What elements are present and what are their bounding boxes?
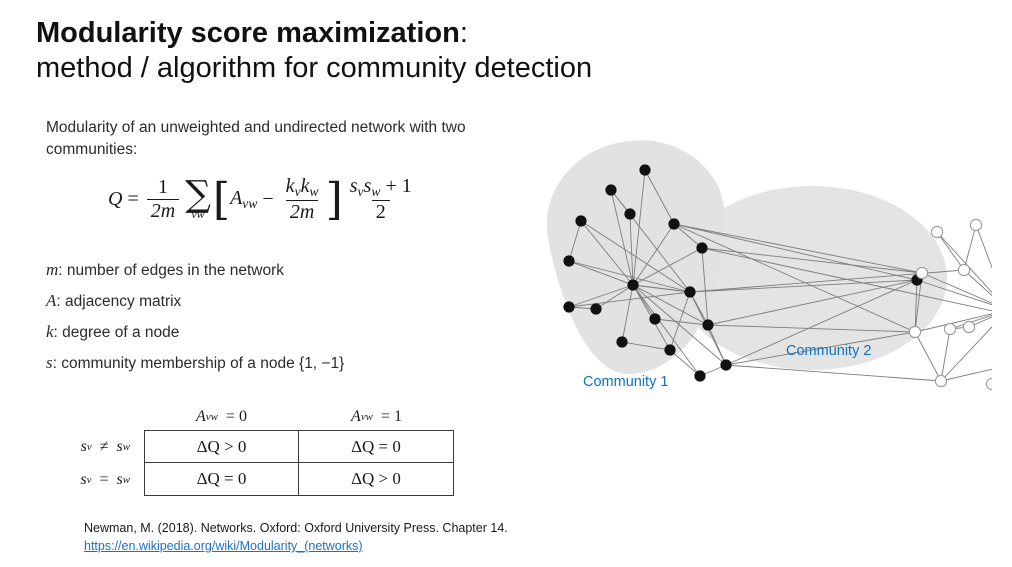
col-header-a-subscript: vw bbox=[361, 411, 373, 423]
network-node bbox=[696, 242, 707, 253]
network-edge bbox=[915, 332, 941, 381]
degree-numerator: kvkw bbox=[282, 176, 323, 200]
table-cell: ΔQ = 0 bbox=[299, 430, 454, 463]
spin-s-w-sub: w bbox=[371, 184, 380, 199]
definition-item: s: community membership of a node {1, −1… bbox=[46, 348, 486, 379]
network-figure bbox=[512, 120, 992, 400]
page-subtitle: method / algorithm for community detecti… bbox=[36, 50, 856, 86]
table-cell: ΔQ > 0 bbox=[144, 430, 299, 463]
citation-block: Newman, M. (2018). Networks. Oxford: Oxf… bbox=[84, 519, 508, 555]
community-1-label: Community 1 bbox=[583, 374, 668, 390]
row-header-s-w-sub: w bbox=[123, 474, 130, 486]
prefactor-fraction: 1 2m bbox=[147, 177, 179, 222]
table-row-header-neq: sv ≠ sw bbox=[24, 430, 144, 463]
col-header-a-value: = 1 bbox=[381, 408, 402, 426]
definition-text: : community membership of a node {1, −1} bbox=[53, 355, 345, 372]
lead-paragraph: Modularity of an unweighted and undirect… bbox=[46, 117, 466, 161]
definition-text: : degree of a node bbox=[54, 324, 180, 341]
network-node bbox=[639, 164, 650, 175]
spin-s-v: s bbox=[350, 175, 358, 197]
network-node bbox=[649, 313, 660, 324]
network-node bbox=[605, 184, 616, 195]
formula-minus: − bbox=[262, 188, 273, 211]
adjacency-term: Avw bbox=[230, 187, 257, 212]
definition-symbol: A bbox=[46, 291, 56, 310]
page-title: Modularity score maximization: bbox=[36, 16, 856, 50]
degree-fraction: kvkw 2m bbox=[282, 176, 323, 223]
formula-lhs: Q bbox=[108, 188, 122, 211]
table-row-header-eq: sv = sw bbox=[24, 463, 144, 496]
network-node bbox=[916, 267, 927, 278]
network-edge bbox=[941, 346, 992, 381]
definition-item: k: degree of a node bbox=[46, 317, 486, 348]
row-header-relation: = bbox=[99, 471, 108, 489]
citation-link[interactable]: https://en.wikipedia.org/wiki/Modularity… bbox=[84, 539, 363, 553]
network-node bbox=[944, 323, 955, 334]
network-node bbox=[624, 208, 635, 219]
community-2-label: Community 2 bbox=[786, 343, 871, 359]
title-strong: Modularity score maximization bbox=[36, 17, 460, 49]
col-header-a-subscript: vw bbox=[206, 411, 218, 423]
row-header-s-w-sub: w bbox=[123, 441, 130, 453]
definition-text: : number of edges in the network bbox=[58, 262, 284, 279]
title-colon: : bbox=[460, 17, 468, 49]
adjacency-symbol: A bbox=[230, 187, 242, 209]
degree-k-w: k bbox=[301, 175, 310, 197]
degree-k-v: k bbox=[286, 175, 295, 197]
definition-item: A: adjacency matrix bbox=[46, 286, 486, 317]
network-node bbox=[627, 279, 638, 290]
network-node bbox=[958, 264, 969, 275]
row-header-s-v-sub: v bbox=[87, 474, 92, 486]
spin-denominator: 2 bbox=[372, 200, 390, 223]
table-cell: ΔQ > 0 bbox=[299, 463, 454, 496]
bracket-open: [ bbox=[213, 180, 230, 220]
network-node bbox=[963, 321, 974, 332]
network-graph-svg bbox=[512, 120, 992, 400]
row-header-relation: ≠ bbox=[100, 438, 109, 456]
definition-item: m: number of edges in the network bbox=[46, 255, 486, 286]
summation: ∑ vw bbox=[185, 180, 211, 220]
citation-reference: Newman, M. (2018). Networks. Oxford: Oxf… bbox=[84, 519, 508, 537]
network-edge bbox=[964, 225, 976, 270]
adjacency-subscript: vw bbox=[242, 196, 257, 211]
network-node bbox=[935, 375, 946, 386]
network-node bbox=[575, 215, 586, 226]
spin-numerator: svsw + 1 bbox=[346, 176, 416, 200]
spin-plus-one: + 1 bbox=[385, 175, 411, 197]
network-node bbox=[909, 326, 920, 337]
sum-subscript: vw bbox=[191, 209, 204, 220]
degree-denominator: 2m bbox=[286, 200, 318, 223]
title-block: Modularity score maximization: method / … bbox=[36, 16, 856, 86]
table-cell: ΔQ = 0 bbox=[144, 463, 299, 496]
definition-symbol: k bbox=[46, 322, 54, 341]
col-header-a-symbol: A bbox=[351, 408, 361, 426]
delta-q-table: Avw = 0 Avw = 1 sv ≠ sw ΔQ > 0 ΔQ = 0 sv… bbox=[24, 404, 454, 496]
network-node bbox=[986, 378, 992, 389]
table-col-header-a1: Avw = 1 bbox=[299, 404, 454, 430]
row-header-s-v-sub: v bbox=[87, 441, 92, 453]
table-col-header-a0: Avw = 0 bbox=[144, 404, 299, 430]
table-corner-blank bbox=[24, 404, 144, 430]
prefactor-denominator: 2m bbox=[147, 199, 179, 222]
modularity-formula: Q = 1 2m ∑ vw [ Avw − kvkw 2m ] svsw + 1… bbox=[108, 176, 419, 223]
network-node bbox=[664, 344, 675, 355]
network-edge bbox=[964, 270, 992, 310]
network-node bbox=[668, 218, 679, 229]
network-node bbox=[694, 370, 705, 381]
network-node bbox=[931, 226, 942, 237]
col-header-a-symbol: A bbox=[196, 408, 206, 426]
col-header-a-value: = 0 bbox=[226, 408, 247, 426]
sigma-icon: ∑ bbox=[185, 180, 211, 210]
network-node bbox=[616, 336, 627, 347]
network-node bbox=[590, 303, 601, 314]
network-node bbox=[563, 255, 574, 266]
network-node bbox=[684, 286, 695, 297]
network-edge bbox=[670, 350, 700, 376]
network-node bbox=[720, 359, 731, 370]
network-node bbox=[563, 301, 574, 312]
definition-symbol: m bbox=[46, 260, 58, 279]
prefactor-numerator: 1 bbox=[154, 177, 172, 199]
network-node bbox=[702, 319, 713, 330]
spin-fraction: svsw + 1 2 bbox=[346, 176, 416, 223]
definition-list: m: number of edges in the network A: adj… bbox=[46, 255, 486, 379]
slide: Modularity score maximization: method / … bbox=[0, 0, 1012, 567]
bracket-close: ] bbox=[326, 180, 343, 220]
formula-equals: = bbox=[127, 188, 138, 211]
network-node bbox=[970, 219, 981, 230]
degree-k-w-sub: w bbox=[310, 184, 319, 199]
definition-symbol: s bbox=[46, 353, 53, 372]
definition-text: : adjacency matrix bbox=[56, 293, 181, 310]
